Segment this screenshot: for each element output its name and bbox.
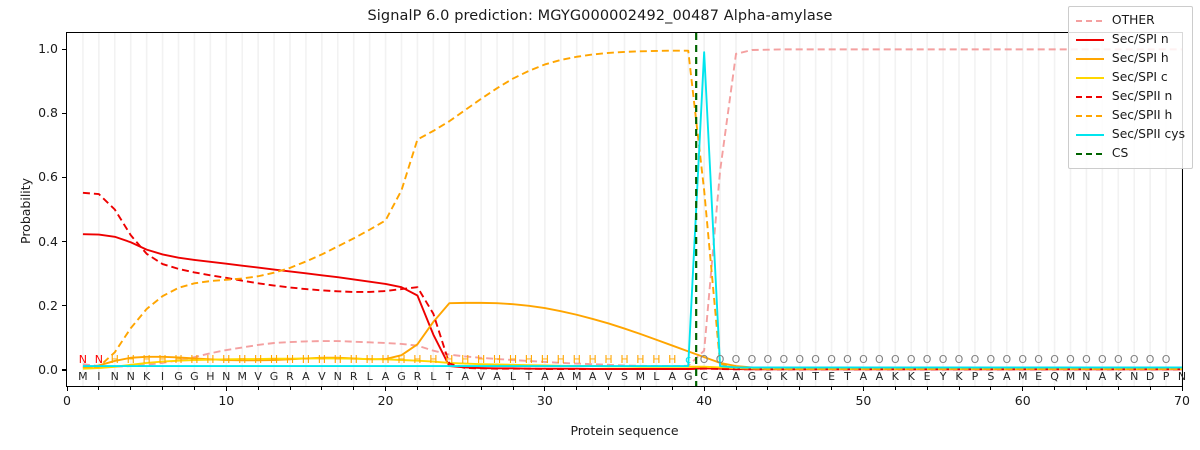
legend-item-sec-spii-h[interactable]: Sec/SPII h [1075,106,1185,125]
sequence-residue: I [155,371,171,382]
region-marker: O [760,354,776,365]
region-marker: H [601,354,617,365]
x-tick-minor [130,387,131,390]
sequence-residue: A [553,371,569,382]
sequence-residue: G [760,371,776,382]
chart-title: SignalP 6.0 prediction: MGYG000002492_00… [0,8,1200,24]
sequence-residue: R [346,371,362,382]
region-marker: H [171,354,187,365]
x-tick-minor [576,387,577,390]
sequence-residue: A [457,371,473,382]
sequence-residue: E [919,371,935,382]
region-marker: O [744,354,760,365]
sequence-residue: M [1063,371,1079,382]
region-marker: O [728,354,744,365]
sequence-residue: C [696,371,712,382]
legend-item-cs[interactable]: CS [1075,144,1185,163]
sequence-residue: S [617,371,633,382]
sequence-residue: S [983,371,999,382]
y-tick-label: 0.0 [16,362,58,377]
region-marker: H [473,354,489,365]
legend-label: Sec/SPII h [1112,109,1172,121]
y-tick-label: 1.0 [16,41,58,56]
region-marker: H [425,354,441,365]
region-marker: H [250,354,266,365]
region-marker: O [1126,354,1142,365]
sequence-residue: K [139,371,155,382]
region-marker: O [887,354,903,365]
sequence-residue: A [1094,371,1110,382]
region-marker: O [999,354,1015,365]
region-marker: H [298,354,314,365]
x-tick-minor [1118,387,1119,390]
region-marker: O [840,354,856,365]
region-marker: H [186,354,202,365]
sequence-residue: G [394,371,410,382]
sequence-residue: Y [935,371,951,382]
x-tick-label: 70 [1157,393,1200,408]
legend-swatch-icon [1075,15,1105,27]
x-tick-minor [481,387,482,390]
x-tick-mark [863,387,864,391]
region-marker: O [855,354,871,365]
region-marker: O [776,354,792,365]
region-marker: H [378,354,394,365]
x-tick-minor [1150,387,1151,390]
region-marker: H [234,354,250,365]
x-tick-mark [385,387,386,391]
sequence-residue: A [999,371,1015,382]
sequence-residue: L [425,371,441,382]
y-tick-label: 0.8 [16,105,58,120]
sequence-residue: E [1031,371,1047,382]
series-line-sec-spi-n [83,234,1182,369]
sequence-residue: A [712,371,728,382]
sequence-residue: K [951,371,967,382]
region-marker: N [75,354,91,365]
region-marker: H [202,354,218,365]
legend-item-other[interactable]: OTHER [1075,11,1185,30]
x-tick-mark [226,387,227,391]
region-marker: O [1047,354,1063,365]
sequence-residue: A [378,371,394,382]
legend-swatch-icon [1075,110,1105,122]
x-tick-minor [831,387,832,390]
x-tick-minor [959,387,960,390]
sequence-residue: G [266,371,282,382]
y-tick-label: 0.6 [16,169,58,184]
sequence-residue: V [473,371,489,382]
series-line-sec-spii-n [83,193,1182,370]
sequence-residue: I [91,371,107,382]
x-tick-label: 10 [201,393,251,408]
region-marker: H [632,354,648,365]
x-tick-minor [290,387,291,390]
x-tick-mark [1022,387,1023,391]
legend-label: OTHER [1112,14,1155,26]
region-marker: H [394,354,410,365]
legend-label: Sec/SPI c [1112,71,1168,83]
series-line-other [83,49,1182,366]
region-marker: H [537,354,553,365]
legend-swatch-icon [1075,91,1105,103]
region-marker: H [107,354,123,365]
sequence-residue: L [648,371,664,382]
region-marker: H [218,354,234,365]
region-marker: O [935,354,951,365]
sequence-residue: T [840,371,856,382]
sequence-residue: A [585,371,601,382]
sequence-residue: A [664,371,680,382]
x-tick-minor [736,387,737,390]
sequence-residue: H [202,371,218,382]
region-marker: H [648,354,664,365]
region-marker: O [808,354,824,365]
sequence-residue: Q [1047,371,1063,382]
sequence-residue: P [1158,371,1174,382]
sequence-residue: N [792,371,808,382]
x-tick-minor [1086,387,1087,390]
legend-label: Sec/SPI n [1112,33,1169,45]
x-tick-minor [353,387,354,390]
sequence-residue: L [505,371,521,382]
sequence-residue: E [824,371,840,382]
sequence-residue: K [887,371,903,382]
x-tick-minor [194,387,195,390]
x-tick-label: 30 [520,393,570,408]
legend-swatch-icon [1075,148,1105,160]
x-tick-minor [927,387,928,390]
sequence-residue: D [1142,371,1158,382]
plot-area [66,32,1183,387]
region-marker: H [585,354,601,365]
region-marker: O [1142,354,1158,365]
chart-legend: OTHERSec/SPI nSec/SPI hSec/SPI cSec/SPII… [1068,6,1193,169]
sequence-residue: T [808,371,824,382]
x-tick-minor [258,387,259,390]
sequence-residue: N [1126,371,1142,382]
region-marker: O [903,354,919,365]
region-marker: H [123,354,139,365]
sequence-residue: N [330,371,346,382]
x-tick-label: 40 [679,393,729,408]
region-marker: O [1015,354,1031,365]
region-marker: H [266,354,282,365]
region-marker: H [346,354,362,365]
region-marker: H [489,354,505,365]
region-marker: H [617,354,633,365]
x-tick-minor [162,387,163,390]
x-tick-minor [98,387,99,390]
region-marker: H [155,354,171,365]
sequence-residue: G [186,371,202,382]
x-tick-minor [895,387,896,390]
sequence-residue: K [903,371,919,382]
sequence-residue: G [744,371,760,382]
plot-svg [67,33,1182,386]
chart-root: SignalP 6.0 prediction: MGYG000002492_00… [0,0,1200,450]
sequence-residue: N [107,371,123,382]
sequence-residue: A [855,371,871,382]
region-marker: O [1031,354,1047,365]
sequence-residue: A [728,371,744,382]
x-tick-label: 60 [998,393,1048,408]
sequence-residue: N [1174,371,1190,382]
region-marker: H [314,354,330,365]
region-marker: O [983,354,999,365]
x-tick-label: 50 [838,393,888,408]
region-marker: H [664,354,680,365]
region-marker: O [951,354,967,365]
region-marker: O [1110,354,1126,365]
region-marker: H [441,354,457,365]
x-tick-minor [417,387,418,390]
x-tick-label: 0 [42,393,92,408]
sequence-residue: G [680,371,696,382]
x-tick-minor [799,387,800,390]
region-marker: H [505,354,521,365]
x-tick-mark [67,387,68,391]
region-marker: O [1158,354,1174,365]
x-tick-mark [704,387,705,391]
region-marker: O [712,354,728,365]
sequence-residue: V [601,371,617,382]
legend-item-sec-spi-n[interactable]: Sec/SPI n [1075,30,1185,49]
sequence-residue: V [314,371,330,382]
legend-item-sec-spi-h[interactable]: Sec/SPI h [1075,49,1185,68]
region-marker: O [967,354,983,365]
region-marker: O [919,354,935,365]
x-tick-mark [1182,387,1183,391]
sequence-residue: N [218,371,234,382]
sequence-residue: T [521,371,537,382]
legend-swatch-icon [1075,53,1105,65]
sequence-residue: M [569,371,585,382]
region-marker: N [91,354,107,365]
series-line-sec-spii-cys [83,52,1182,367]
region-marker: H [409,354,425,365]
region-marker: c [680,354,696,365]
legend-item-sec-spii-cys[interactable]: Sec/SPII cys [1075,125,1185,144]
series-line-sec-spii-h [83,51,1182,369]
region-marker: O [792,354,808,365]
x-axis-label: Protein sequence [66,423,1183,438]
legend-swatch-icon [1075,129,1105,141]
sequence-residue: M [75,371,91,382]
legend-item-sec-spi-c[interactable]: Sec/SPI c [1075,68,1185,87]
legend-label: CS [1112,147,1128,159]
x-tick-label: 20 [361,393,411,408]
sequence-residue: M [234,371,250,382]
x-tick-minor [672,387,673,390]
sequence-residue: R [282,371,298,382]
sequence-residue: A [298,371,314,382]
region-marker: O [1078,354,1094,365]
region-marker: H [330,354,346,365]
sequence-residue: L [362,371,378,382]
x-tick-minor [513,387,514,390]
x-tick-minor [608,387,609,390]
legend-swatch-icon [1075,34,1105,46]
legend-swatch-icon [1075,72,1105,84]
x-tick-mark [544,387,545,391]
x-tick-minor [640,387,641,390]
sequence-residue: V [250,371,266,382]
legend-label: Sec/SPII cys [1112,128,1185,140]
sequence-residue: K [1110,371,1126,382]
sequence-residue: T [441,371,457,382]
region-marker: H [139,354,155,365]
x-tick-minor [321,387,322,390]
region-marker: O [871,354,887,365]
region-marker: O [696,354,712,365]
region-marker: O [1063,354,1079,365]
legend-label: Sec/SPII n [1112,90,1172,102]
sequence-residue: M [1015,371,1031,382]
x-tick-minor [990,387,991,390]
region-marker: O [824,354,840,365]
y-tick-label: 0.2 [16,298,58,313]
sequence-residue: N [123,371,139,382]
sequence-residue: G [171,371,187,382]
region-marker: H [521,354,537,365]
region-marker: H [457,354,473,365]
sequence-residue: P [967,371,983,382]
legend-label: Sec/SPI h [1112,52,1169,64]
sequence-residue: A [489,371,505,382]
sequence-residue: K [776,371,792,382]
legend-item-sec-spii-n[interactable]: Sec/SPII n [1075,87,1185,106]
region-marker: H [282,354,298,365]
region-marker: H [569,354,585,365]
sequence-residue: A [537,371,553,382]
sequence-residue: N [1078,371,1094,382]
y-tick-label: 0.4 [16,234,58,249]
sequence-residue: A [871,371,887,382]
region-marker: H [553,354,569,365]
region-marker: H [362,354,378,365]
region-marker: O [1094,354,1110,365]
x-tick-minor [1054,387,1055,390]
x-tick-minor [449,387,450,390]
sequence-residue: R [409,371,425,382]
x-tick-minor [767,387,768,390]
sequence-residue: M [632,371,648,382]
